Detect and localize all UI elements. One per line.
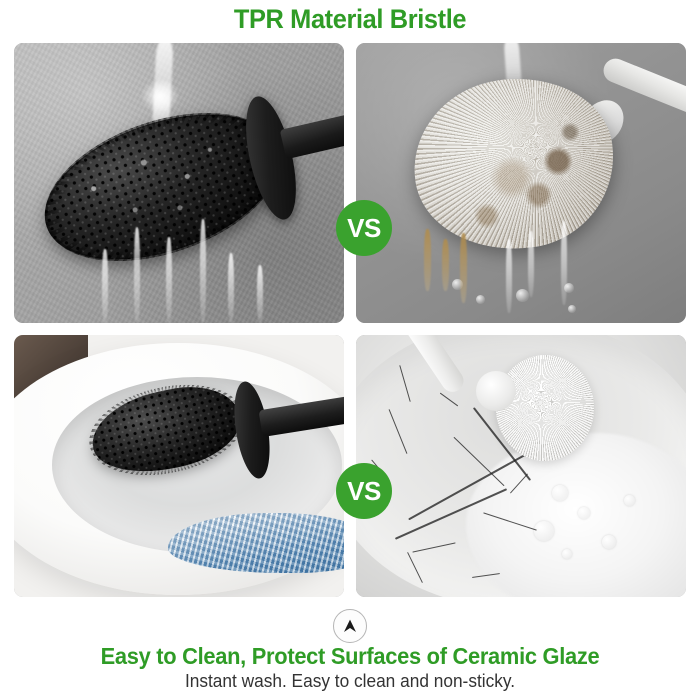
page-title: TPR Material Bristle [21,2,679,36]
vs-badge-bottom: VS [336,463,392,519]
dirty-water-drip [442,239,449,291]
panel-silicone-brush-in-clean-bowl [14,335,344,597]
water-texture [168,513,344,573]
water-drip [528,231,534,297]
panel-traditional-bristle-brush-rinsing [356,43,686,323]
comparison-grid: VS VS [14,43,686,597]
nylon-bristle-head [496,355,594,461]
water-bubble [516,289,529,302]
panel-tpr-silicone-brush-rinsing [14,43,344,323]
water-drip [200,219,206,323]
panel-bristle-brush-scratched-bowl [356,335,686,597]
vs-badge-top: VS [336,200,392,256]
foam-bubble [602,535,616,549]
water-drip [102,249,108,323]
footer-headline: Easy to Clean, Protect Surfaces of Ceram… [18,643,683,670]
brush-collar [476,371,516,411]
foam-bubble [578,507,590,519]
water-drip [134,227,140,323]
foam-bubble [534,521,554,541]
water-bubble [452,279,463,290]
water-bubble [564,283,574,293]
bristle-fibers [496,355,594,461]
up-chevron-in-circle-icon [333,609,367,643]
water-drip [257,265,263,323]
water-bubble [476,295,485,304]
foam-bubble [624,495,635,506]
foam-bubble [562,549,572,559]
foam-bubble [552,485,568,501]
water-splash [140,79,180,113]
water-drip [166,237,172,323]
footer-subtitle: Instant wash. Easy to clean and non-stic… [14,671,686,692]
water-drip [506,239,512,313]
water-bubble [568,305,576,313]
dirty-water-drip [424,229,431,291]
water-drip [228,253,234,323]
dirty-water-drip [460,233,467,303]
blue-water [168,513,344,573]
